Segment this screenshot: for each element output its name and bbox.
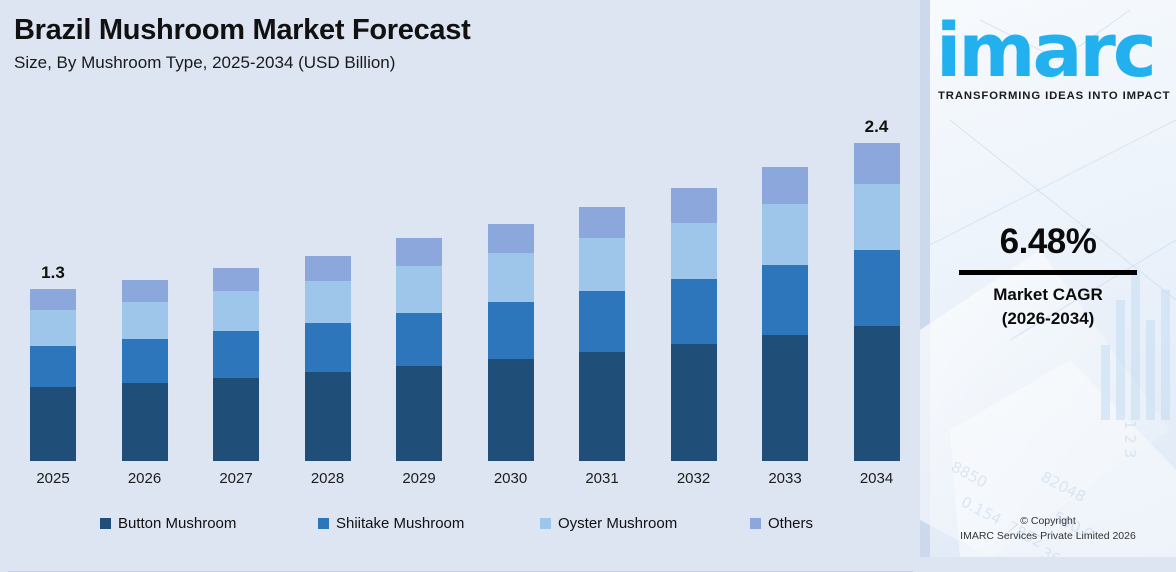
bar-segment[interactable] (488, 359, 534, 461)
copyright-line-2: IMARC Services Private Limited 2026 (920, 529, 1176, 544)
bar-segment[interactable] (854, 326, 900, 461)
bar-segment[interactable] (854, 143, 900, 184)
logo-tagline: TRANSFORMING IDEAS INTO IMPACT (938, 90, 1176, 102)
brand-panel: 500.0 0.154 7852 8850 82048 368 1 2 3 im… (920, 0, 1176, 557)
x-tick-2033: 2033 (745, 470, 825, 487)
copyright-notice: © Copyright IMARC Services Private Limit… (920, 514, 1176, 544)
x-tick-2028: 2028 (288, 470, 368, 487)
svg-text:1 2 3: 1 2 3 (1121, 420, 1139, 458)
bar-segment[interactable] (762, 265, 808, 335)
page-subtitle: Size, By Mushroom Type, 2025-2034 (USD B… (14, 53, 470, 73)
bar-segment[interactable] (579, 238, 625, 291)
bar-2032[interactable] (671, 109, 717, 461)
bar-2031[interactable] (579, 109, 625, 461)
x-axis: 2025202620272028202920302031203220332034 (0, 470, 920, 494)
bar-segment[interactable] (305, 281, 351, 323)
cagr-label: Market CAGR (920, 285, 1176, 305)
chart-header: Brazil Mushroom Market Forecast Size, By… (14, 14, 470, 73)
bar-segment[interactable] (488, 253, 534, 302)
legend-item-others[interactable]: Others (750, 515, 813, 532)
x-tick-2029: 2029 (379, 470, 459, 487)
cagr-divider (959, 270, 1137, 275)
bar-segment[interactable] (854, 184, 900, 250)
bar-segment[interactable] (762, 335, 808, 461)
legend-label: Oyster Mushroom (558, 515, 677, 532)
bar-segment[interactable] (396, 313, 442, 366)
bar-segment[interactable] (30, 310, 76, 346)
x-tick-2030: 2030 (471, 470, 551, 487)
legend-item-button-mushroom[interactable]: Button Mushroom (100, 515, 236, 532)
bar-segment[interactable] (762, 167, 808, 204)
legend-label: Shiitake Mushroom (336, 515, 464, 532)
bar-segment[interactable] (396, 238, 442, 266)
bar-segment[interactable] (30, 346, 76, 387)
bar-segment[interactable] (671, 279, 717, 344)
bar-segment[interactable] (122, 383, 168, 461)
bar-segment[interactable] (122, 302, 168, 339)
bar-segment[interactable] (213, 378, 259, 461)
x-tick-2031: 2031 (562, 470, 642, 487)
bar-segment[interactable] (671, 344, 717, 461)
bar-segment[interactable] (396, 266, 442, 312)
legend-swatch (100, 518, 111, 529)
imarc-logo: imarc TRANSFORMING IDEAS INTO IMPACT (936, 16, 1176, 102)
bar-segment[interactable] (30, 387, 76, 461)
bar-segment[interactable] (579, 207, 625, 239)
bar-segment[interactable] (213, 268, 259, 292)
bar-value-label: 2.4 (832, 117, 922, 137)
bar-2028[interactable] (305, 109, 351, 461)
bar-segment[interactable] (122, 280, 168, 303)
bar-segment[interactable] (396, 366, 442, 461)
bar-2034[interactable] (854, 109, 900, 461)
bar-segment[interactable] (488, 224, 534, 253)
x-tick-2034: 2034 (837, 470, 917, 487)
page-title: Brazil Mushroom Market Forecast (14, 14, 470, 47)
bar-segment[interactable] (213, 331, 259, 377)
plot-area: 1.32.4 (0, 110, 920, 462)
bar-segment[interactable] (30, 289, 76, 310)
bar-2030[interactable] (488, 109, 534, 461)
bar-segment[interactable] (579, 352, 625, 461)
bar-segment[interactable] (305, 372, 351, 461)
logo-wordmark: imarc (936, 16, 1176, 86)
bar-segment[interactable] (213, 291, 259, 331)
x-tick-2025: 2025 (13, 470, 93, 487)
bar-segment[interactable] (854, 250, 900, 326)
bar-segment[interactable] (305, 256, 351, 281)
bar-2033[interactable] (762, 109, 808, 461)
legend-item-shiitake-mushroom[interactable]: Shiitake Mushroom (318, 515, 464, 532)
cagr-value: 6.48% (920, 222, 1176, 262)
bar-2029[interactable] (396, 109, 442, 461)
bar-segment[interactable] (122, 339, 168, 383)
x-tick-2032: 2032 (654, 470, 734, 487)
bar-segment[interactable] (579, 291, 625, 352)
legend-swatch (318, 518, 329, 529)
forecast-infographic: Brazil Mushroom Market Forecast Size, By… (0, 0, 1176, 557)
cagr-period: (2026-2034) (920, 309, 1176, 329)
bar-segment[interactable] (488, 302, 534, 359)
bar-group: 1.32.4 (0, 110, 920, 462)
chart-panel: Brazil Mushroom Market Forecast Size, By… (0, 0, 920, 557)
chart-legend: Button MushroomShiitake MushroomOyster M… (0, 515, 920, 545)
bar-2025[interactable] (30, 109, 76, 461)
legend-item-oyster-mushroom[interactable]: Oyster Mushroom (540, 515, 677, 532)
bar-segment[interactable] (671, 223, 717, 280)
legend-label: Button Mushroom (118, 515, 236, 532)
bar-segment[interactable] (671, 188, 717, 222)
bar-value-label: 1.3 (8, 263, 98, 283)
x-tick-2026: 2026 (105, 470, 185, 487)
legend-label: Others (768, 515, 813, 532)
bar-2027[interactable] (213, 109, 259, 461)
legend-swatch (540, 518, 551, 529)
x-tick-2027: 2027 (196, 470, 276, 487)
bar-segment[interactable] (762, 204, 808, 265)
bar-segment[interactable] (305, 323, 351, 372)
cagr-callout: 6.48% Market CAGR (2026-2034) (920, 222, 1176, 329)
legend-swatch (750, 518, 761, 529)
bar-2026[interactable] (122, 109, 168, 461)
copyright-line-1: © Copyright (920, 514, 1176, 529)
